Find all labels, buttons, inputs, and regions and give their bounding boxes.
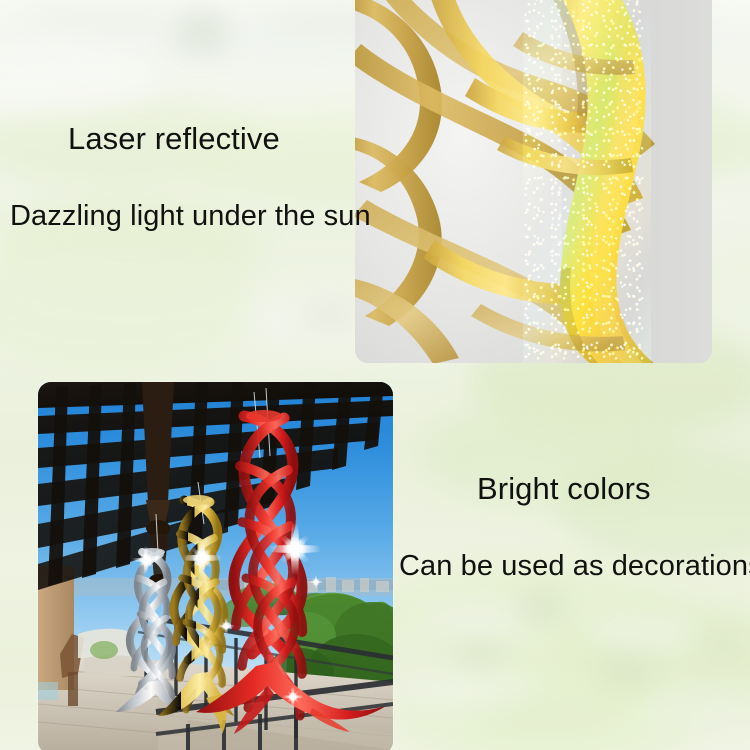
caption-decorations: Can be used as decorations [399,550,750,583]
product-photo-gold-closeup [355,0,712,363]
product-photo-patio-scene [38,382,393,750]
caption-laser-reflective: Laser reflective [68,121,280,157]
caption-bright-colors: Bright colors [477,471,651,507]
caption-dazzling-light: Dazzling light under the sun [10,200,371,233]
glitter-speckle-overlay [523,0,652,363]
